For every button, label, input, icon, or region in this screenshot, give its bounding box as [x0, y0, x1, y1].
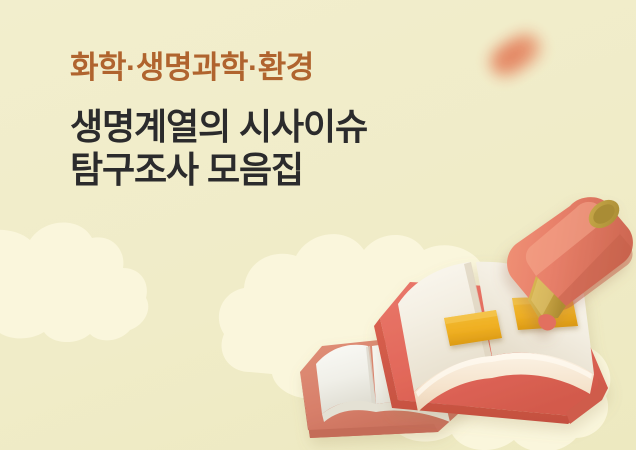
promo-banner: 화학·생명과학·환경 생명계열의 시사이슈 탐구조사 모음집	[0, 0, 636, 450]
cloud-left	[0, 222, 148, 342]
title-line-1: 생명계열의 시사이슈	[70, 105, 490, 148]
eyebrow-text: 화학·생명과학·환경	[70, 48, 490, 88]
headline-block: 화학·생명과학·환경 생명계열의 시사이슈 탐구조사 모음집	[70, 48, 490, 191]
page-title: 생명계열의 시사이슈 탐구조사 모음집	[70, 105, 490, 191]
title-line-2: 탐구조사 모음집	[70, 148, 490, 191]
cloud-right	[219, 234, 610, 450]
